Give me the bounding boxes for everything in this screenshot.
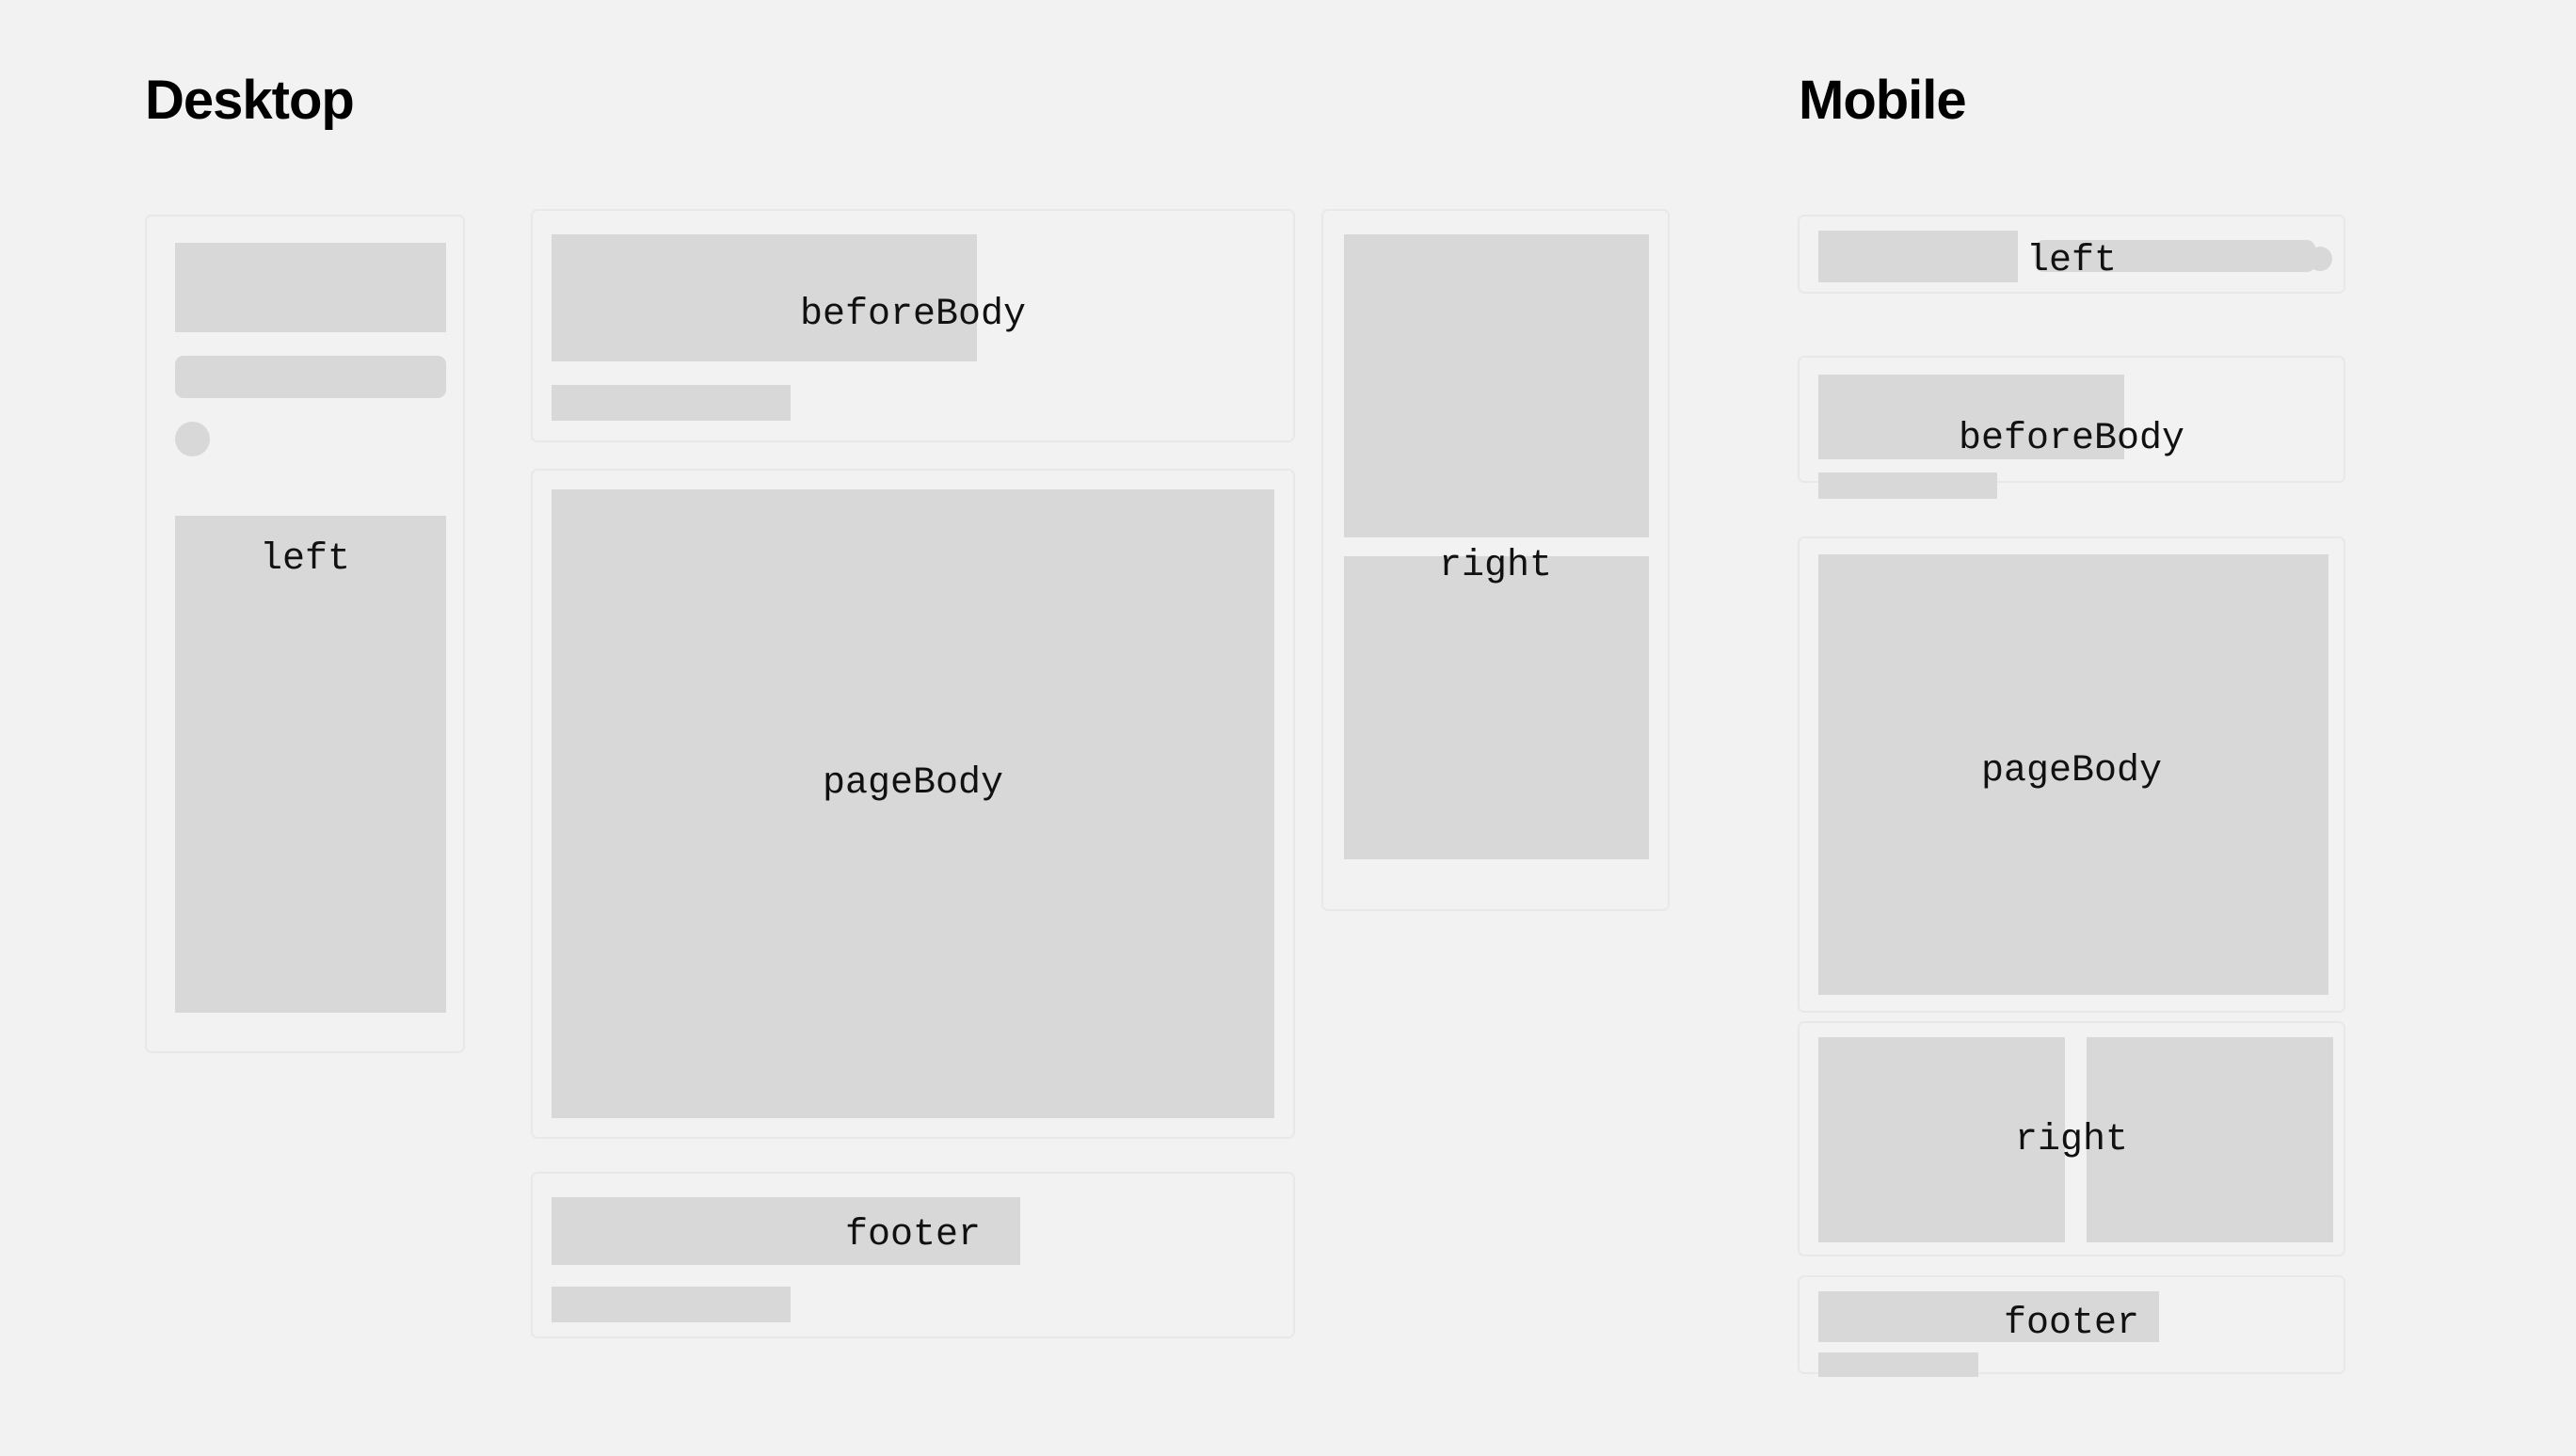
skeleton-bar	[1818, 472, 1997, 499]
skeleton-block	[552, 489, 1274, 1118]
skeleton-block	[175, 243, 446, 332]
mobile-region-left[interactable]	[1798, 215, 2345, 294]
skeleton-block	[1818, 375, 2124, 459]
skeleton-block	[552, 234, 977, 361]
skeleton-bar	[552, 1287, 791, 1322]
skeleton-bar	[175, 356, 446, 398]
skeleton-block	[1818, 554, 2328, 995]
skeleton-avatar-circle	[2308, 247, 2332, 271]
mobile-section-title: Mobile	[1799, 73, 1966, 128]
skeleton-block	[175, 516, 446, 1013]
desktop-region-right[interactable]	[1321, 209, 1670, 911]
skeleton-bar	[552, 385, 791, 421]
skeleton-block	[1818, 1037, 2065, 1242]
skeleton-block	[1818, 1291, 2159, 1342]
desktop-region-page-body[interactable]	[531, 469, 1295, 1139]
skeleton-avatar-circle	[175, 422, 210, 456]
skeleton-block	[2087, 1037, 2333, 1242]
skeleton-block	[1344, 556, 1649, 859]
mobile-region-right[interactable]	[1798, 1021, 2345, 1256]
mobile-region-before-body[interactable]	[1798, 356, 2345, 483]
skeleton-bar	[2035, 240, 2315, 272]
desktop-region-left[interactable]	[145, 215, 465, 1053]
desktop-region-before-body[interactable]	[531, 209, 1295, 442]
desktop-section-title: Desktop	[145, 73, 354, 128]
layout-preview-canvas: Desktop left beforeBody pageBody right f…	[0, 0, 2576, 1456]
mobile-region-page-body[interactable]	[1798, 536, 2345, 1013]
skeleton-bar	[1818, 1352, 1978, 1377]
desktop-region-footer[interactable]	[531, 1172, 1295, 1338]
mobile-region-footer[interactable]	[1798, 1275, 2345, 1374]
skeleton-block	[1818, 231, 2018, 282]
skeleton-block	[1344, 234, 1649, 537]
skeleton-block	[552, 1197, 1020, 1265]
